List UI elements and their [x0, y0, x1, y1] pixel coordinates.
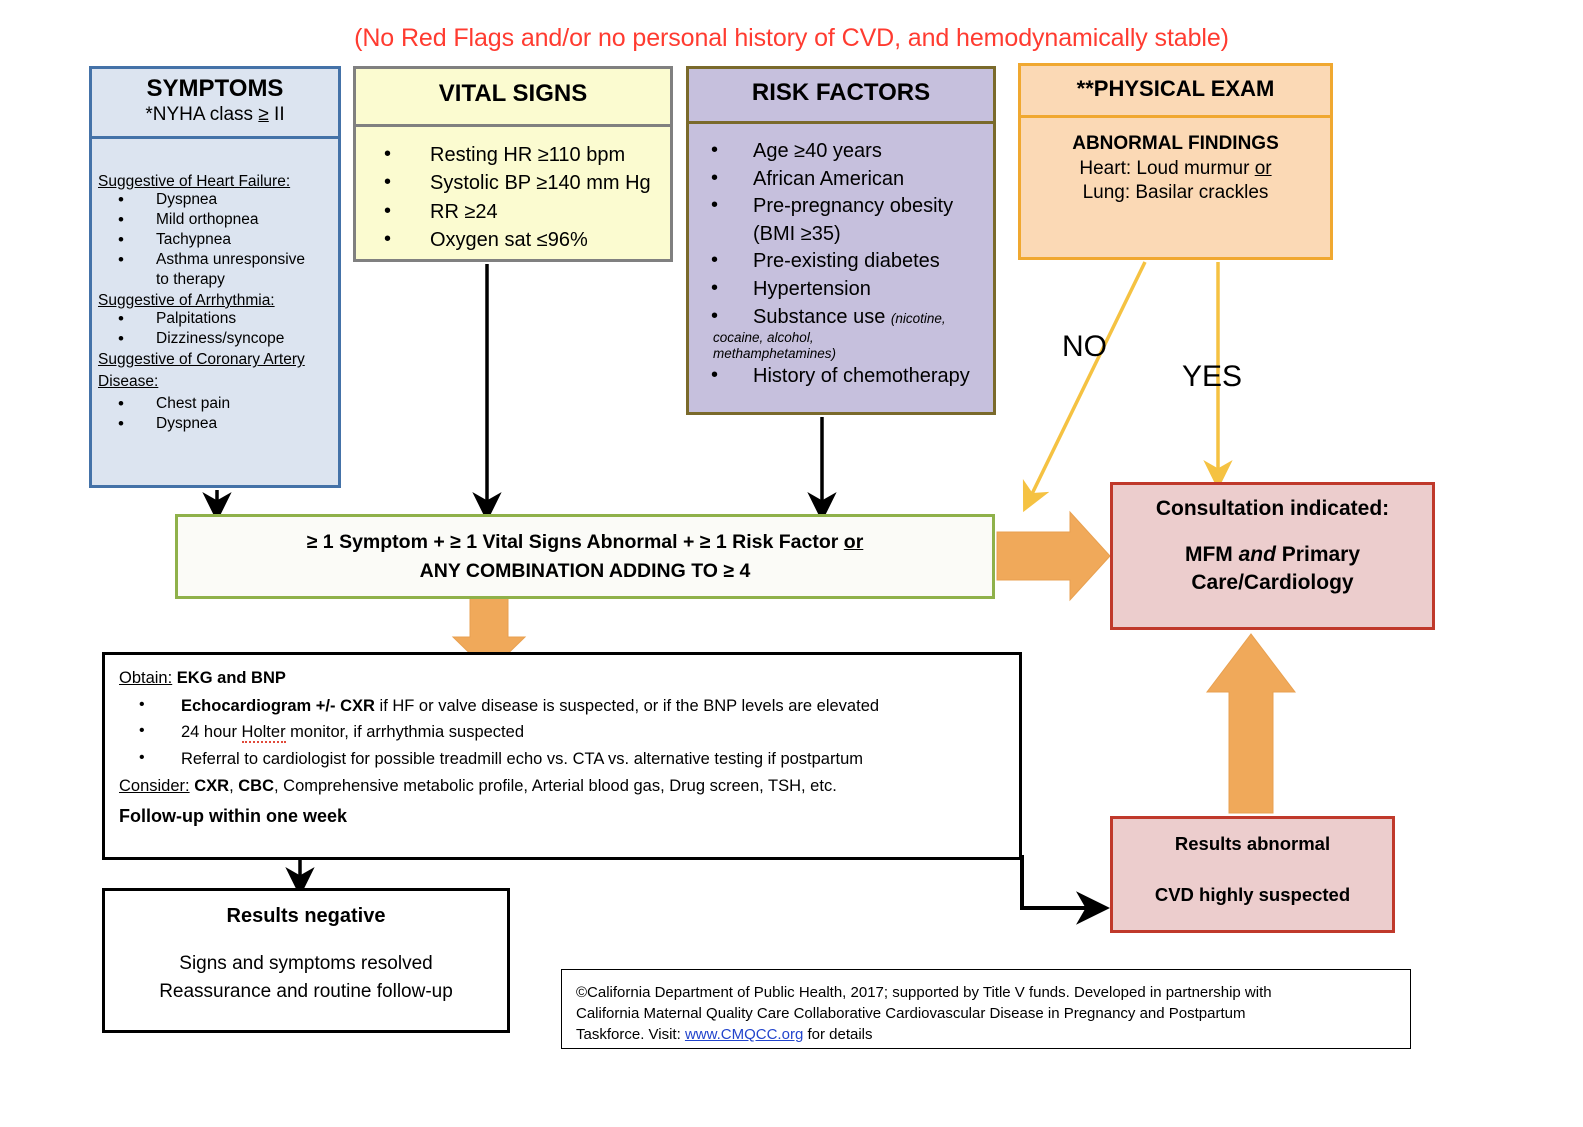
list-item: Dyspnea [98, 191, 332, 210]
results-abnormal-line2: CVD highly suspected [1113, 886, 1392, 905]
list-item-holter: 24 hour Holter monitor, if arrhythmia su… [119, 722, 1005, 742]
consider-row: Consider: CXR, CBC, Comprehensive metabo… [119, 775, 1005, 797]
list-item-substance: Substance use (nicotine, cocaine, alcoho… [693, 304, 989, 362]
list-item-echo: Echocardiogram +/- CXR if HF or valve di… [119, 696, 1005, 716]
cad-list: Chest pain Dyspnea [98, 395, 332, 434]
vital-signs-header: VITAL SIGNS [356, 69, 670, 127]
combination-text: ≥ 1 Symptom + ≥ 1 Vital Signs Abnormal +… [307, 528, 864, 586]
obtain-workup-box: Obtain: EKG and BNP Echocardiogram +/- C… [102, 652, 1022, 860]
echo-rest: if HF or valve disease is suspected, or … [375, 697, 879, 715]
list-item: Asthma unresponsive [98, 251, 332, 270]
combination-criteria-box: ≥ 1 Symptom + ≥ 1 Vital Signs Abnormal +… [175, 514, 995, 599]
list-item: African American [693, 166, 989, 193]
holter-word: Holter [242, 723, 286, 743]
decision-label-no: NO [1062, 330, 1107, 364]
orange-arrow-up [1207, 634, 1295, 813]
group-label-cad-cont: Disease: [98, 372, 332, 391]
arrhythmia-list: Palpitations Dizziness/syncope [98, 310, 332, 349]
physical-exam-panel: **PHYSICAL EXAM ABNORMAL FINDINGS Heart:… [1018, 63, 1333, 260]
list-item: Chest pain [98, 395, 332, 414]
list-item: Pre-existing diabetes [693, 248, 989, 275]
decision-label-yes: YES [1182, 360, 1242, 394]
physical-exam-header: **PHYSICAL EXAM [1021, 66, 1330, 118]
footer-line1: ©California Department of Public Health,… [576, 982, 1396, 1003]
list-item: RR ≥24 [362, 200, 664, 224]
group-label-cad: Suggestive of Coronary Artery [98, 350, 332, 369]
list-item: Mild orthopnea [98, 211, 332, 230]
consultation-line2: Care/Cardiology [1113, 569, 1432, 597]
list-item: Oxygen sat ≤96% [362, 228, 664, 252]
obtain-header-row: Obtain: EKG and BNP [119, 667, 1005, 689]
list-item: Hypertension [693, 276, 989, 303]
consider-cxr: CXR [194, 777, 229, 795]
footer-line3: Taskforce. Visit: www.CMQCC.org for deta… [576, 1024, 1396, 1045]
footer-line2: California Maternal Quality Care Collabo… [576, 1003, 1396, 1024]
consider-cbc: CBC [238, 777, 274, 795]
red-flags-note: (No Red Flags and/or no personal history… [0, 24, 1583, 53]
obtain-value: EKG and BNP [177, 669, 286, 687]
cmqcc-link[interactable]: www.CMQCC.org [685, 1026, 803, 1043]
orange-arrow-right [997, 512, 1110, 600]
list-item: Dyspnea [98, 415, 332, 434]
group-label-heart-failure: Suggestive of Heart Failure: [98, 172, 332, 191]
list-item: Tachypnea [98, 231, 332, 250]
consultation-box: Consultation indicated: MFM and Primary … [1110, 482, 1435, 630]
holter-pre: 24 hour [181, 723, 242, 741]
physical-exam-title: **PHYSICAL EXAM [1021, 66, 1330, 102]
results-abnormal-box: Results abnormal CVD highly suspected [1110, 816, 1395, 933]
abnormal-findings-lung: Lung: Basilar crackles [1029, 181, 1322, 206]
risk-factors-title: RISK FACTORS [689, 69, 993, 107]
holter-rest: monitor, if arrhythmia suspected [286, 723, 524, 741]
vital-signs-panel: VITAL SIGNS Resting HR ≥110 bpm Systolic… [353, 66, 673, 262]
combination-line1: ≥ 1 Symptom + ≥ 1 Vital Signs Abnormal +… [307, 531, 844, 553]
symptoms-title: SYMPTOMS [92, 75, 338, 103]
physical-exam-body: ABNORMAL FINDINGS Heart: Loud murmur or … [1021, 122, 1330, 206]
list-item: Resting HR ≥110 bpm [362, 143, 664, 167]
consider-sep: , [229, 777, 238, 795]
symptoms-panel: SYMPTOMS *NYHA class ≥ II Suggestive of … [89, 66, 341, 488]
heart-failure-list: Dyspnea Mild orthopnea Tachypnea Asthma … [98, 191, 332, 290]
list-item: Systolic BP ≥140 mm Hg [362, 171, 664, 195]
list-item-referral: Referral to cardiologist for possible tr… [119, 749, 1005, 769]
consider-rest: , Comprehensive metabolic profile, Arter… [274, 777, 837, 795]
followup-text: Follow-up within one week [119, 804, 1005, 828]
risk-factors-list: Age ≥40 years African American Pre-pregn… [693, 138, 989, 390]
combination-line2: ANY COMBINATION ADDING TO ≥ 4 [420, 560, 751, 582]
combination-or: or [844, 531, 864, 553]
list-item: History of chemotherapy [693, 363, 989, 390]
symptoms-subtitle: *NYHA class ≥ II [92, 104, 338, 127]
consider-label: Consider: [119, 777, 190, 795]
consultation-title: Consultation indicated: [1113, 497, 1432, 521]
list-item: Dizziness/syncope [98, 330, 332, 349]
results-negative-box: Results negative Signs and symptoms reso… [102, 888, 510, 1033]
risk-factors-panel: RISK FACTORS Age ≥40 years African Ameri… [686, 66, 996, 415]
results-negative-title: Results negative [105, 905, 507, 928]
substance-use-label: Substance use [753, 306, 885, 328]
vital-signs-title: VITAL SIGNS [356, 69, 670, 108]
substance-note-2: cocaine, alcohol, [713, 330, 989, 346]
obtain-list: Echocardiogram +/- CXR if HF or valve di… [119, 696, 1005, 768]
abnormal-findings-heart: Heart: Loud murmur or [1029, 157, 1322, 182]
symptoms-body: Suggestive of Heart Failure: Dyspnea Mil… [92, 142, 338, 435]
vital-signs-list: Resting HR ≥110 bpm Systolic BP ≥140 mm … [362, 143, 664, 253]
abnormal-findings-header: ABNORMAL FINDINGS [1029, 132, 1322, 157]
list-item: Age ≥40 years [693, 138, 989, 165]
symptoms-header: SYMPTOMS *NYHA class ≥ II [92, 69, 338, 139]
copyright-footer: ©California Department of Public Health,… [561, 969, 1411, 1049]
list-item-cont: (BMI ≥35) [693, 221, 989, 248]
echo-bold: Echocardiogram +/- CXR [181, 697, 375, 715]
obtain-label: Obtain: [119, 669, 172, 687]
list-item-cont: to therapy [98, 271, 332, 290]
group-label-arrhythmia: Suggestive of Arrhythmia: [98, 291, 332, 310]
risk-factors-header: RISK FACTORS [689, 69, 993, 124]
risk-factors-body: Age ≥40 years African American Pre-pregn… [689, 128, 993, 391]
results-negative-line1: Signs and symptoms resolved [105, 950, 507, 978]
list-item: Palpitations [98, 310, 332, 329]
results-negative-line2: Reassurance and routine follow-up [105, 978, 507, 1006]
vital-signs-body: Resting HR ≥110 bpm Systolic BP ≥140 mm … [356, 131, 670, 257]
consultation-line1: MFM and Primary [1113, 541, 1432, 569]
substance-note-1: (nicotine, [891, 311, 946, 326]
list-item: Pre-pregnancy obesity [693, 193, 989, 220]
results-abnormal-line1: Results abnormal [1113, 835, 1392, 854]
substance-note-3: methamphetamines) [713, 346, 989, 362]
